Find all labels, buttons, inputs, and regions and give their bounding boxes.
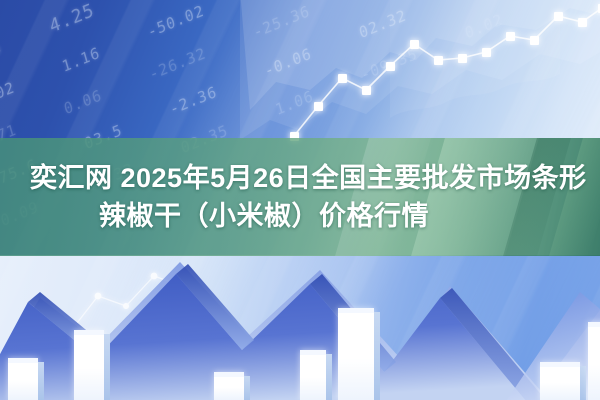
banner-title: 奕汇网 2025年5月26日全国主要批发市场条形 辣椒干（小米椒）价格行情 [0, 138, 600, 256]
title-line-2: 辣椒干（小米椒）价格行情 [99, 197, 429, 235]
title-line-1: 奕汇网 2025年5月26日全国主要批发市场条形 [30, 159, 587, 197]
price-report-banner: -0.05 -09.35 -11.25 21.96 45.02 -0.95 2.… [0, 0, 600, 400]
sky-gradient-bottom [0, 255, 600, 400]
